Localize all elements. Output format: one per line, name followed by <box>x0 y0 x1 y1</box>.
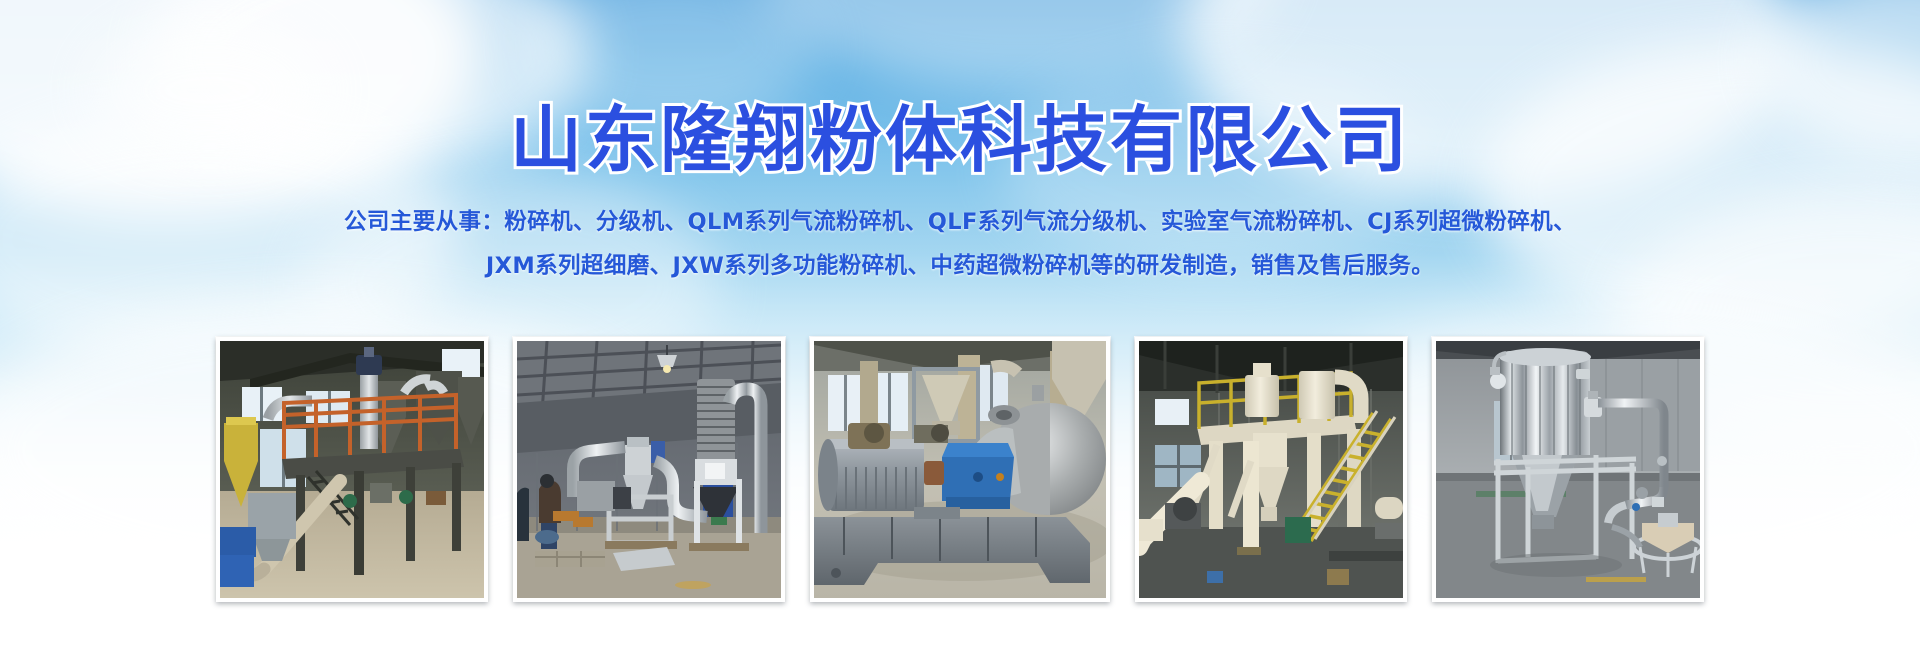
subtitle-line-1: 公司主要从事：粉碎机、分级机、QLM系列气流粉碎机、QLF系列气流分级机、实验室… <box>0 200 1920 244</box>
photo-card-lab-unit[interactable] <box>1432 337 1704 602</box>
photo-card-workshop-cyclone[interactable] <box>513 337 785 602</box>
company-banner: 山东隆翔粉体科技有限公司 公司主要从事：粉碎机、分级机、QLM系列气流粉碎机、Q… <box>0 0 1920 667</box>
photo-card-workshop-platform[interactable] <box>216 337 488 602</box>
photo-card-jet-mill-plant[interactable] <box>1135 337 1407 602</box>
company-name-title: 山东隆翔粉体科技有限公司 <box>510 100 1410 181</box>
workshop-cyclone-and-piping-image <box>517 341 781 598</box>
photo-card-motor-assembly[interactable] <box>810 337 1110 602</box>
workshop-platform-with-orange-railing-image <box>220 341 484 598</box>
grey-motor-with-blue-gearbox-image <box>814 341 1106 598</box>
white-jet-mill-with-yellow-stairs-image <box>1139 341 1403 598</box>
subtitle-line-2: JXM系列超细磨、JXW系列多功能粉碎机、中药超微粉碎机等的研发制造，销售及售后… <box>0 244 1920 288</box>
banner-subtitle: 公司主要从事：粉碎机、分级机、QLM系列气流粉碎机、QLF系列气流分级机、实验室… <box>0 200 1920 288</box>
stainless-steel-lab-unit-image <box>1436 341 1700 598</box>
product-photo-strip <box>0 337 1920 605</box>
